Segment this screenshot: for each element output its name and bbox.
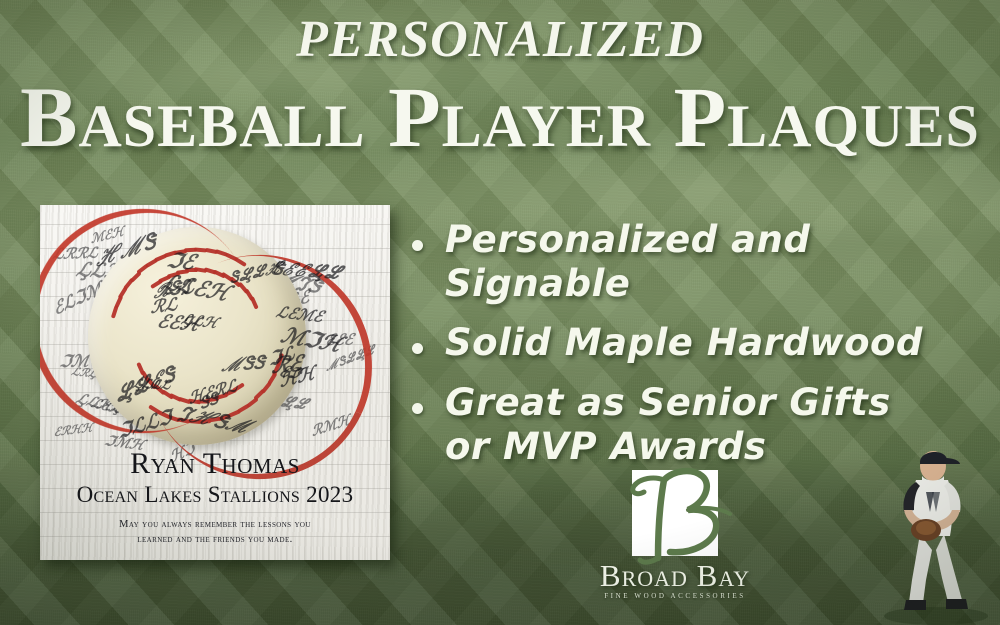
signed-baseball [88,227,306,445]
fielder-figure-icon [876,430,994,625]
plaque-player-name: Ryan Thomas [40,448,390,480]
list-item: Solid Maple Hardwood [412,321,992,365]
brand-logo: Broad Bay FINE WOOD ACCESSORIES [575,470,775,600]
script-b-icon [618,462,734,566]
baseball-stitches [88,227,306,445]
bullet-dot-icon [412,343,423,354]
headline-eyebrow: PERSONALIZED [0,14,1000,66]
plaque-quote: May you always remember the lessons you … [40,517,390,549]
plaque-team-name: Ocean Lakes Stallions 2023 [40,483,390,507]
feature-text: Great as Senior Gifts or MVP Awards [445,381,891,468]
feature-text: Personalized and Signable [445,218,992,305]
baseball-player-photo [876,430,994,625]
bullet-dot-icon [412,240,423,251]
logo-tagline: FINE WOOD ACCESSORIES [575,592,775,600]
logo-monogram-mark [632,470,718,556]
headline-block: PERSONALIZED Baseball Player Plaques [0,14,1000,162]
plaque-quote-line-2: learned and the friends you made. [40,532,390,548]
page-title: Baseball Player Plaques [0,74,1000,162]
bullet-dot-icon [412,403,423,414]
plaque-quote-line-1: May you always remember the lessons you [40,517,390,533]
plaque-engraving: Ryan Thomas Ocean Lakes Stallions 2023 M… [40,448,390,548]
feature-text: Solid Maple Hardwood [445,321,923,365]
baseball-plaque-promo-banner: PERSONALIZED Baseball Player Plaques Per… [0,0,1000,625]
product-plaque-image: ℳᏕℒℒ̧ℒℋℑℳℰℋℛℳℋℒ̧ℒℳℒℛℒ̧ℒℛℒℰℰℒ̧ℒℒ̧ℒℰℰℰℒ̧ℒℋ… [40,205,390,560]
list-item: Personalized and Signable [412,218,992,305]
